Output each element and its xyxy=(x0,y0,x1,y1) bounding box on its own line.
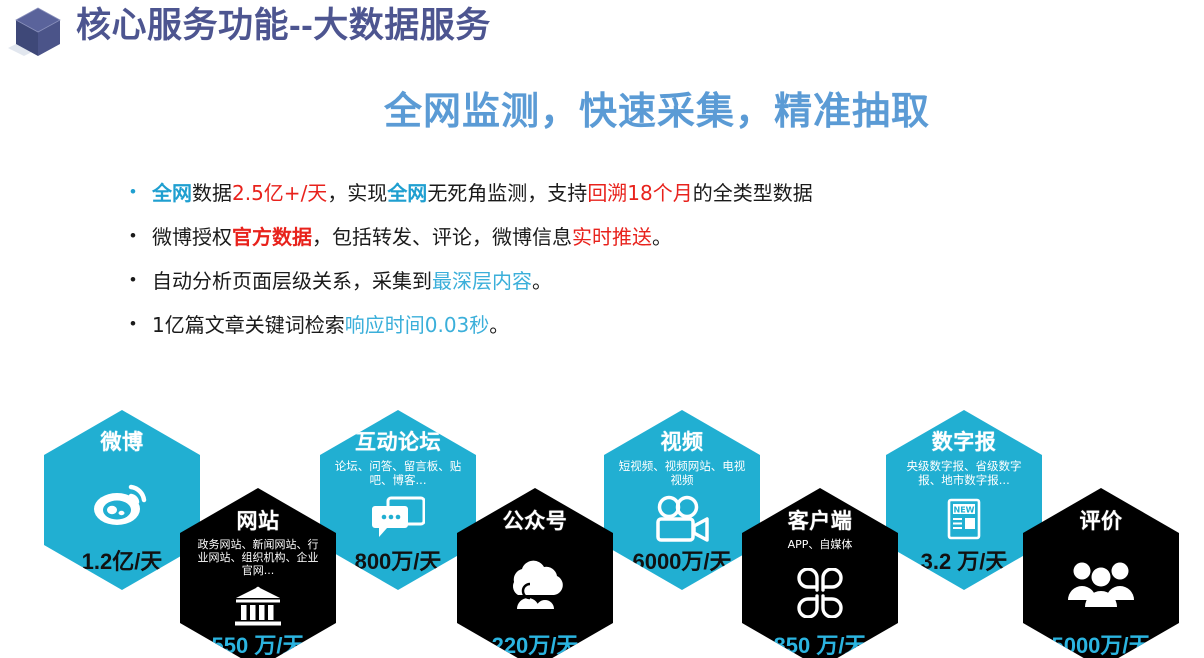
bullet-list: •全网数据2.5亿+/天，实现全网无死角监测，支持回溯18个月的全类型数据•微博… xyxy=(126,180,1026,356)
hexagon-description: 论坛、问答、留言板、贴吧、博客... xyxy=(334,459,462,487)
newspaper-new-icon: NEW xyxy=(886,487,1042,550)
hexagon-card-review[interactable]: 评价 5000万/天 xyxy=(1023,488,1179,658)
hexagon-description: APP、自媒体 xyxy=(756,538,884,551)
bullet-segment: 全网 xyxy=(152,181,192,205)
hexagon-card-website[interactable]: 网站政务网站、新闻网站、行业网站、组织机构、企业官网... 550 万/天 xyxy=(180,488,336,658)
hexagon-card-digital-newspaper[interactable]: 数字报央级数字报、省级数字报、地市数字报... NEW 3.2 万/天 xyxy=(886,410,1042,590)
hexagon-title: 评价 xyxy=(1080,510,1123,534)
hexagon-value: 550 万/天 xyxy=(212,634,305,658)
bullet-item: •自动分析页面层级关系，采集到最深层内容。 xyxy=(126,268,1026,312)
hexagon-value: 220万/天 xyxy=(492,634,579,658)
bullet-text: 微博授权官方数据，包括转发、评论，微博信息实时推送。 xyxy=(152,224,672,250)
video-camera-icon xyxy=(604,487,760,550)
bullet-segment: 回溯18个月 xyxy=(587,181,692,205)
hexagon-card-forum[interactable]: 互动论坛论坛、问答、留言板、贴吧、博客... 800万/天 xyxy=(320,410,476,590)
bullet-segment: ，实现 xyxy=(327,181,387,205)
hexagon-value: 3.2 万/天 xyxy=(921,550,1008,574)
hexagon-value: 800万/天 xyxy=(355,550,442,574)
bullet-item: •全网数据2.5亿+/天，实现全网无死角监测，支持回溯18个月的全类型数据 xyxy=(126,180,1026,224)
bullet-segment: 无死角监测，支持 xyxy=(427,181,587,205)
people-group-icon xyxy=(1023,534,1179,634)
bullet-segment: 数据 xyxy=(192,181,232,205)
bullet-text: 自动分析页面层级关系，采集到最深层内容。 xyxy=(152,268,552,294)
hexagon-title: 互动论坛 xyxy=(355,431,441,455)
hexagon-description: 政务网站、新闻网站、行业网站、组织机构、企业官网... xyxy=(194,538,322,577)
bullet-segment: 微博授权 xyxy=(152,225,232,249)
hexagon-card-video[interactable]: 视频短视频、视频网站、电视视频 6000万/天 xyxy=(604,410,760,590)
bullet-segment: 官方数据 xyxy=(232,225,312,249)
bullet-segment: 全网 xyxy=(387,181,427,205)
hexagon-card-official-account[interactable]: 公众号 220万/天 xyxy=(457,488,613,658)
wechat-cloud-people-icon xyxy=(457,534,613,634)
weibo-icon xyxy=(44,455,200,550)
bullet-text: 1亿篇文章关键词检索响应时间0.03秒。 xyxy=(152,312,509,338)
bullet-segment: 1亿篇文章关键词检索 xyxy=(152,313,345,337)
cube-icon xyxy=(8,4,70,62)
bullet-segment: 自动分析页面层级关系，采集到 xyxy=(152,269,432,293)
hexagon-value: 1.2亿/天 xyxy=(82,550,163,574)
svg-text:NEW: NEW xyxy=(954,505,975,514)
bullet-segment: 2.5亿+/天 xyxy=(232,181,327,205)
hexagon-title: 数字报 xyxy=(932,431,997,455)
channel-hexagon-row: 微博 1.2亿/天网站政务网站、新闻网站、行业网站、组织机构、企业官网... 5… xyxy=(0,400,1204,658)
hexagon-value: 850 万/天 xyxy=(774,634,867,658)
bullet-item: •微博授权官方数据，包括转发、评论，微博信息实时推送。 xyxy=(126,224,1026,268)
bullet-segment: 。 xyxy=(652,225,672,249)
bullet-segment: ，包括转发、评论，微博信息 xyxy=(312,225,572,249)
bullet-segment: 。 xyxy=(532,269,552,293)
hexagon-description: 央级数字报、省级数字报、地市数字报... xyxy=(900,459,1028,487)
hexagon-value: 6000万/天 xyxy=(632,550,731,574)
bullet-segment: 响应时间0.03秒 xyxy=(345,313,490,337)
bullet-marker-icon: • xyxy=(126,312,152,336)
four-petal-app-icon xyxy=(742,551,898,634)
hexagon-title: 客户端 xyxy=(788,510,853,534)
chat-bubbles-icon xyxy=(320,487,476,550)
page-title: 核心服务功能--大数据服务 xyxy=(76,4,491,48)
slide-subtitle: 全网监测，快速采集，精准抽取 xyxy=(0,88,1204,136)
hexagon-value: 5000万/天 xyxy=(1051,634,1150,658)
bullet-marker-icon: • xyxy=(126,180,152,204)
hexagon-title: 网站 xyxy=(237,510,280,534)
bullet-text: 全网数据2.5亿+/天，实现全网无死角监测，支持回溯18个月的全类型数据 xyxy=(152,180,813,206)
hexagon-card-weibo[interactable]: 微博 1.2亿/天 xyxy=(44,410,200,590)
hexagon-title: 视频 xyxy=(661,431,704,455)
hexagon-title: 微博 xyxy=(101,431,144,455)
hexagon-card-client[interactable]: 客户端APP、自媒体 850 万/天 xyxy=(742,488,898,658)
bullet-segment: 实时推送 xyxy=(572,225,652,249)
bullet-segment: 最深层内容 xyxy=(432,269,532,293)
bullet-marker-icon: • xyxy=(126,224,152,248)
bullet-segment: 的全类型数据 xyxy=(693,181,813,205)
bullet-segment: 。 xyxy=(489,313,509,337)
bullet-marker-icon: • xyxy=(126,268,152,292)
hexagon-description: 短视频、视频网站、电视视频 xyxy=(618,459,746,487)
bullet-item: •1亿篇文章关键词检索响应时间0.03秒。 xyxy=(126,312,1026,356)
hexagon-title: 公众号 xyxy=(503,510,568,534)
slide-header: 核心服务功能--大数据服务 xyxy=(0,0,1204,62)
slide-canvas: 核心服务功能--大数据服务 全网监测，快速采集，精准抽取 •全网数据2.5亿+/… xyxy=(0,0,1204,658)
bank-building-icon xyxy=(180,577,336,634)
